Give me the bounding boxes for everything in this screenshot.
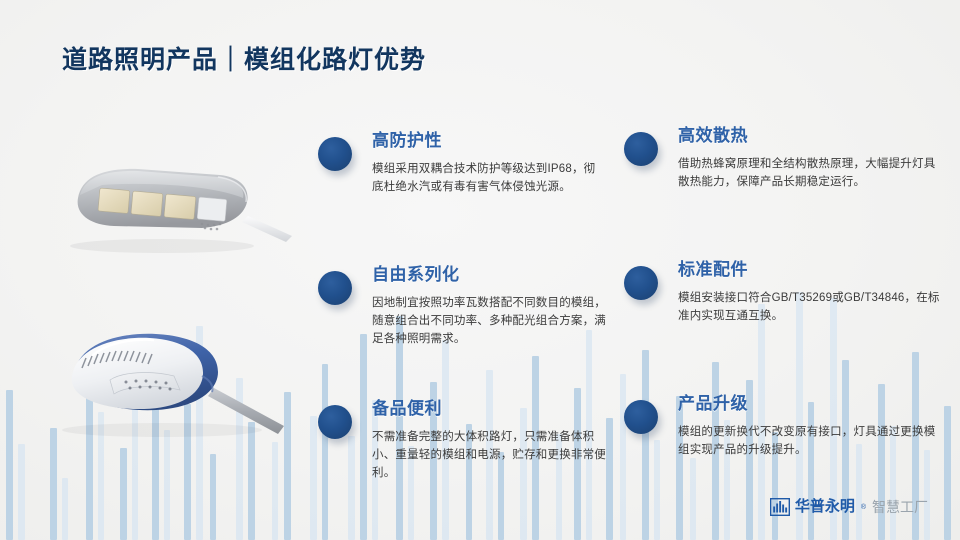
bullet-dot-icon <box>318 271 352 305</box>
feature-body: 因地制宜按照功率瓦数搭配不同数目的模组，随意组合出不同功率、多种配光组合方案，满… <box>372 294 606 348</box>
company-logo: 华普永明 ® 智慧工厂 <box>770 498 928 516</box>
feature-high-protection: 高防护性 模组采用双耦合技术防护等级达到IP68，彻底杜绝水汽或有毒有害气体侵蚀… <box>316 131 606 265</box>
decor-bar <box>120 448 127 540</box>
feature-title: 标准配件 <box>678 260 942 280</box>
bullet-dot-icon <box>624 400 658 434</box>
feature-body: 借助热蜂窝原理和全结构散热原理，大幅提升灯具散热能力，保障产品长期稳定运行。 <box>678 155 942 191</box>
logo-mark-icon <box>770 498 790 516</box>
feature-body: 不需准备完整的大体积路灯，只需准备体积小、重量轻的模组和电源，贮存和更换非常便利… <box>372 428 606 482</box>
blue-white-street-lamp-photo <box>22 318 302 443</box>
feature-efficient-heat-dissipation: 高效散热 借助热蜂窝原理和全结构散热原理，大幅提升灯具散热能力，保障产品长期稳定… <box>622 126 942 260</box>
bullet-dot-icon <box>624 132 658 166</box>
feature-title: 自由系列化 <box>372 265 606 285</box>
decor-bar <box>606 418 613 540</box>
feature-column-left: 高防护性 模组采用双耦合技术防护等级达到IP68，彻底杜绝水汽或有毒有害气体侵蚀… <box>316 131 606 533</box>
logo-brand-text: 华普永明 <box>795 499 855 515</box>
slide-canvas: 道路照明产品｜模组化路灯优势 <box>0 0 960 540</box>
decor-bar <box>18 444 25 540</box>
feature-body: 模组安装接口符合GB/T35269或GB/T34846，在标准内实现互通互换。 <box>678 289 942 325</box>
bullet-dot-icon <box>318 405 352 439</box>
feature-column-right: 高效散热 借助热蜂窝原理和全结构散热原理，大幅提升灯具散热能力，保障产品长期稳定… <box>622 126 942 528</box>
decor-bar <box>164 430 170 540</box>
page-title: 道路照明产品｜模组化路灯优势 <box>62 40 426 76</box>
bullet-dot-icon <box>318 137 352 171</box>
decor-bar <box>50 428 57 540</box>
decor-bar <box>62 478 68 540</box>
feature-title: 备品便利 <box>372 399 606 419</box>
bullet-dot-icon <box>624 266 658 300</box>
decor-bar <box>944 406 951 540</box>
feature-standard-accessories: 标准配件 模组安装接口符合GB/T35269或GB/T34846，在标准内实现互… <box>622 260 942 394</box>
feature-title: 高防护性 <box>372 131 606 151</box>
feature-spare-parts-convenience: 备品便利 不需准备完整的大体积路灯，只需准备体积小、重量轻的模组和电源，贮存和更… <box>316 399 606 533</box>
logo-sub-text: 智慧工厂 <box>872 499 928 515</box>
feature-title: 产品升级 <box>678 394 942 414</box>
logo-trademark-symbol: ® <box>861 504 866 511</box>
decor-bar <box>6 390 13 540</box>
title-block: 道路照明产品｜模组化路灯优势 <box>62 40 426 76</box>
feature-body: 模组采用双耦合技术防护等级达到IP68，彻底杜绝水汽或有毒有害气体侵蚀光源。 <box>372 160 606 196</box>
decor-bar <box>272 442 278 540</box>
gray-led-street-lamp-photo <box>42 150 292 260</box>
feature-free-serialization: 自由系列化 因地制宜按照功率瓦数搭配不同数目的模组，随意组合出不同功率、多种配光… <box>316 265 606 399</box>
feature-title: 高效散热 <box>678 126 942 146</box>
decor-bar <box>210 454 216 540</box>
feature-body: 模组的更新换代不改变原有接口，灯具通过更换模组实现产品的升级提升。 <box>678 423 942 459</box>
